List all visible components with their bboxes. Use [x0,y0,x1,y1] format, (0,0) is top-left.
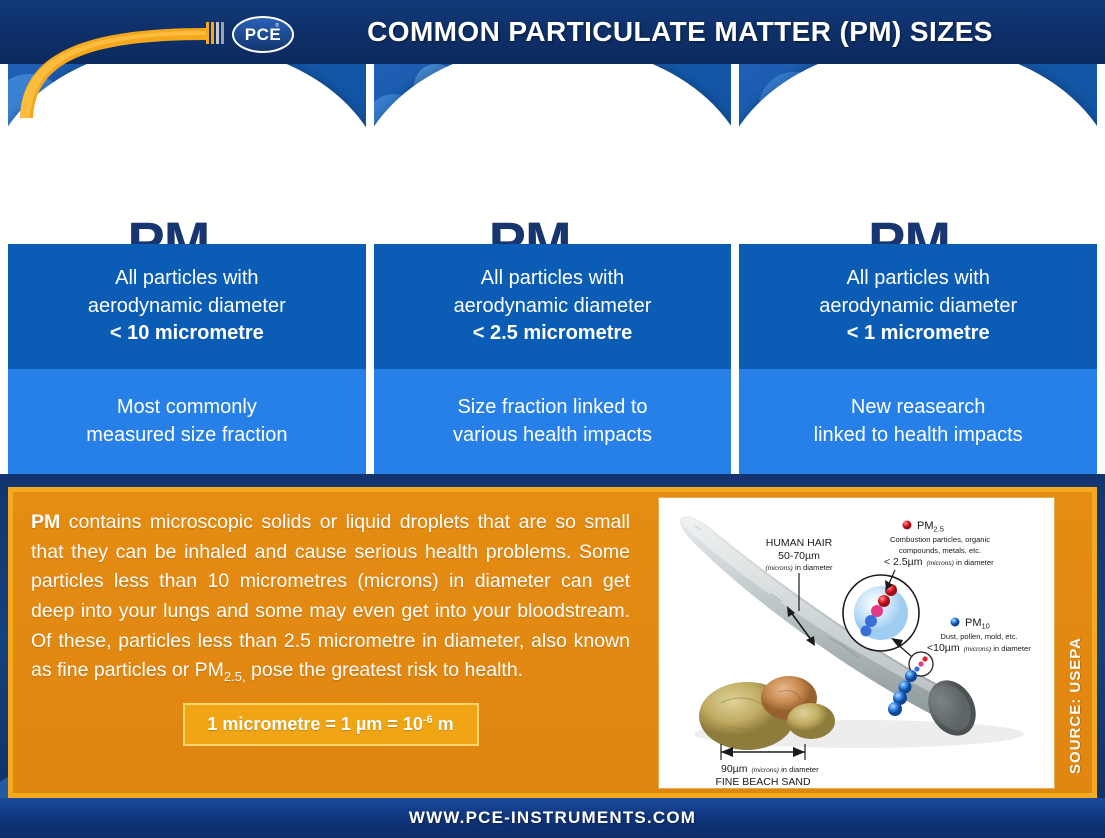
infographic-root: COMMON PARTICULATE MATTER (PM) SIZES PCE… [0,0,1105,838]
pm-dome-pm1: PM1 [739,64,1097,244]
formula-exponent: -6 [423,714,433,726]
label-human-hair-note-rest: in diameter [793,563,833,572]
pm-note-pm1: New reasearch linked to health impacts [739,369,1097,474]
pm10-legend-dot-icon [951,617,960,626]
pm-base-pm25: PM [489,214,571,244]
source-attribution: SOURCE: USEPA [1062,625,1088,785]
definition-line2-pm1: aerodynamic diameter [819,295,1017,317]
label-pm25-note-rest: in diameter [954,558,994,567]
pm25-legend-dot-icon [903,520,912,529]
pm-card-pm1[interactable]: PM1 All particles with aerodynamic diame… [739,64,1097,474]
epa-size-comparison-svg: HUMAN HAIR 50-70µm (microns) in diameter… [659,498,1054,788]
label-pm25-title-sub: 2.5 [934,524,944,533]
body-paragraph-part2: pose the greatest risk to health. [246,659,524,681]
micrometre-formula-box: 1 micrometre = 1 µm = 10-6 m [183,703,479,746]
label-sand-title: FINE BEACH SAND [715,776,811,788]
label-human-hair-note: (microns) in diameter [765,563,833,572]
formula-suffix: m [433,714,454,734]
label-pm10-title: PM10 [965,617,990,631]
label-sand-size-row: 90µm(microns) in diameter [721,763,819,775]
pm-note-pm25: Size fraction linked to various health i… [374,369,732,474]
brand-swoosh-icon [0,0,260,120]
pm-dome-pm25: PM2.5 [374,64,732,244]
label-pm10-size-row: <10µm(microns) in diameter [927,642,1031,654]
label-pm25-size-row: < 2.5µm(microns) in diameter [884,556,994,568]
definition-line2-pm25: aerodynamic diameter [454,295,652,317]
footer-website-url[interactable]: WWW.PCE-INSTRUMENTS.COM [409,808,696,828]
label-pm10-title-base: PM [965,617,982,629]
pm-definition-pm10: All particles with aerodynamic diameter … [8,244,366,369]
page-title: COMMON PARTICULATE MATTER (PM) SIZES [300,0,1060,64]
label-pm10-note-italic: (microns) [964,646,991,653]
note-line1-pm10: Most commonly [117,396,257,418]
pm-note-pm10: Most commonly measured size fraction [8,369,366,474]
label-pm25-size: < 2.5µm [884,556,923,568]
definition-line1-pm1: All particles with [846,267,989,289]
pm-subscript-pm10: 10 [209,243,246,244]
pm-subscript-pm1: 1 [950,243,968,244]
label-pm10-size: <10µm [927,642,960,654]
label-human-hair-size: 50-70µm [778,550,820,562]
pm-label-pm1: PM1 [868,214,968,244]
epa-diagram-image: HUMAN HAIR 50-70µm (microns) in diameter… [658,497,1055,789]
pm-subscript-pm25: 2.5 [571,243,617,244]
epa-diagram-panel: HUMAN HAIR 50-70µm (microns) in diameter… [648,487,1097,798]
pm-label-pm10: PM10 [127,214,246,244]
note-line2-pm10: measured size fraction [86,424,287,446]
pm-cards-row: PM10 All particles with aerodynamic diam… [0,64,1105,474]
pm-base-pm10: PM [127,214,209,244]
pm-card-pm10[interactable]: PM10 All particles with aerodynamic diam… [8,64,366,474]
note-line2-pm25: various health impacts [453,424,652,446]
body-paragraph: PM contains microscopic solids or liquid… [31,508,630,687]
note-line2-pm1: linked to health impacts [814,424,1023,446]
pm-definition-pm1: All particles with aerodynamic diameter … [739,244,1097,369]
pm-card-header-pm1: PM1 [739,64,1097,244]
label-pm10-desc1: Dust, pollen, mold, etc. [940,632,1017,641]
label-pm25-title-base: PM [917,520,934,532]
body-paragraph-part1: contains microscopic solids or liquid dr… [31,511,630,681]
label-pm10-title-sub: 10 [982,621,990,630]
label-human-hair-title: HUMAN HAIR [766,537,833,549]
body-pm-subscript: 2.5, [224,669,246,684]
pm-definition-pm25: All particles with aerodynamic diameter … [374,244,732,369]
label-human-hair-note-italic: (microns) [765,565,792,572]
label-pm25-desc1: Combustion particles, organic [890,535,990,544]
lower-section: PM contains microscopic solids or liquid… [8,487,1097,798]
pce-logo[interactable]: PCE ® [232,16,294,53]
pce-logo-trademark: ® [275,23,279,29]
label-pm25-note-italic: (microns) [926,560,953,567]
label-sand-note-italic: (microns) [751,767,778,774]
label-sand-size: 90µm [721,763,748,775]
note-line1-pm25: Size fraction linked to [457,396,647,418]
pm-base-pm1: PM [868,214,950,244]
explanatory-text-panel: PM contains microscopic solids or liquid… [8,487,648,798]
footer-bar: WWW.PCE-INSTRUMENTS.COM [0,798,1105,838]
pm-card-header-pm25: PM2.5 [374,64,732,244]
definition-bold-pm10: < 10 micrometre [110,322,264,344]
label-pm25-title: PM2.5 [917,520,944,534]
pm-label-pm25: PM2.5 [489,214,617,244]
definition-line2-pm10: aerodynamic diameter [88,295,286,317]
definition-bold-pm1: < 1 micrometre [847,322,990,344]
label-sand-note-rest: in diameter [779,765,819,774]
label-pm25-desc2: compounds, metals, etc. [899,546,981,555]
logo-bars-icon [206,22,228,44]
label-pm10-note-rest: in diameter [991,644,1031,653]
note-line1-pm1: New reasearch [851,396,986,418]
pm-card-pm25[interactable]: PM2.5 All particles with aerodynamic dia… [374,64,732,474]
source-attribution-text: SOURCE: USEPA [1067,637,1084,774]
definition-line1-pm10: All particles with [115,267,258,289]
definition-bold-pm25: < 2.5 micrometre [473,322,633,344]
formula-prefix: 1 micrometre = 1 µm = 10 [207,714,423,734]
body-lead-pm: PM [31,511,60,533]
definition-line1-pm25: All particles with [481,267,624,289]
